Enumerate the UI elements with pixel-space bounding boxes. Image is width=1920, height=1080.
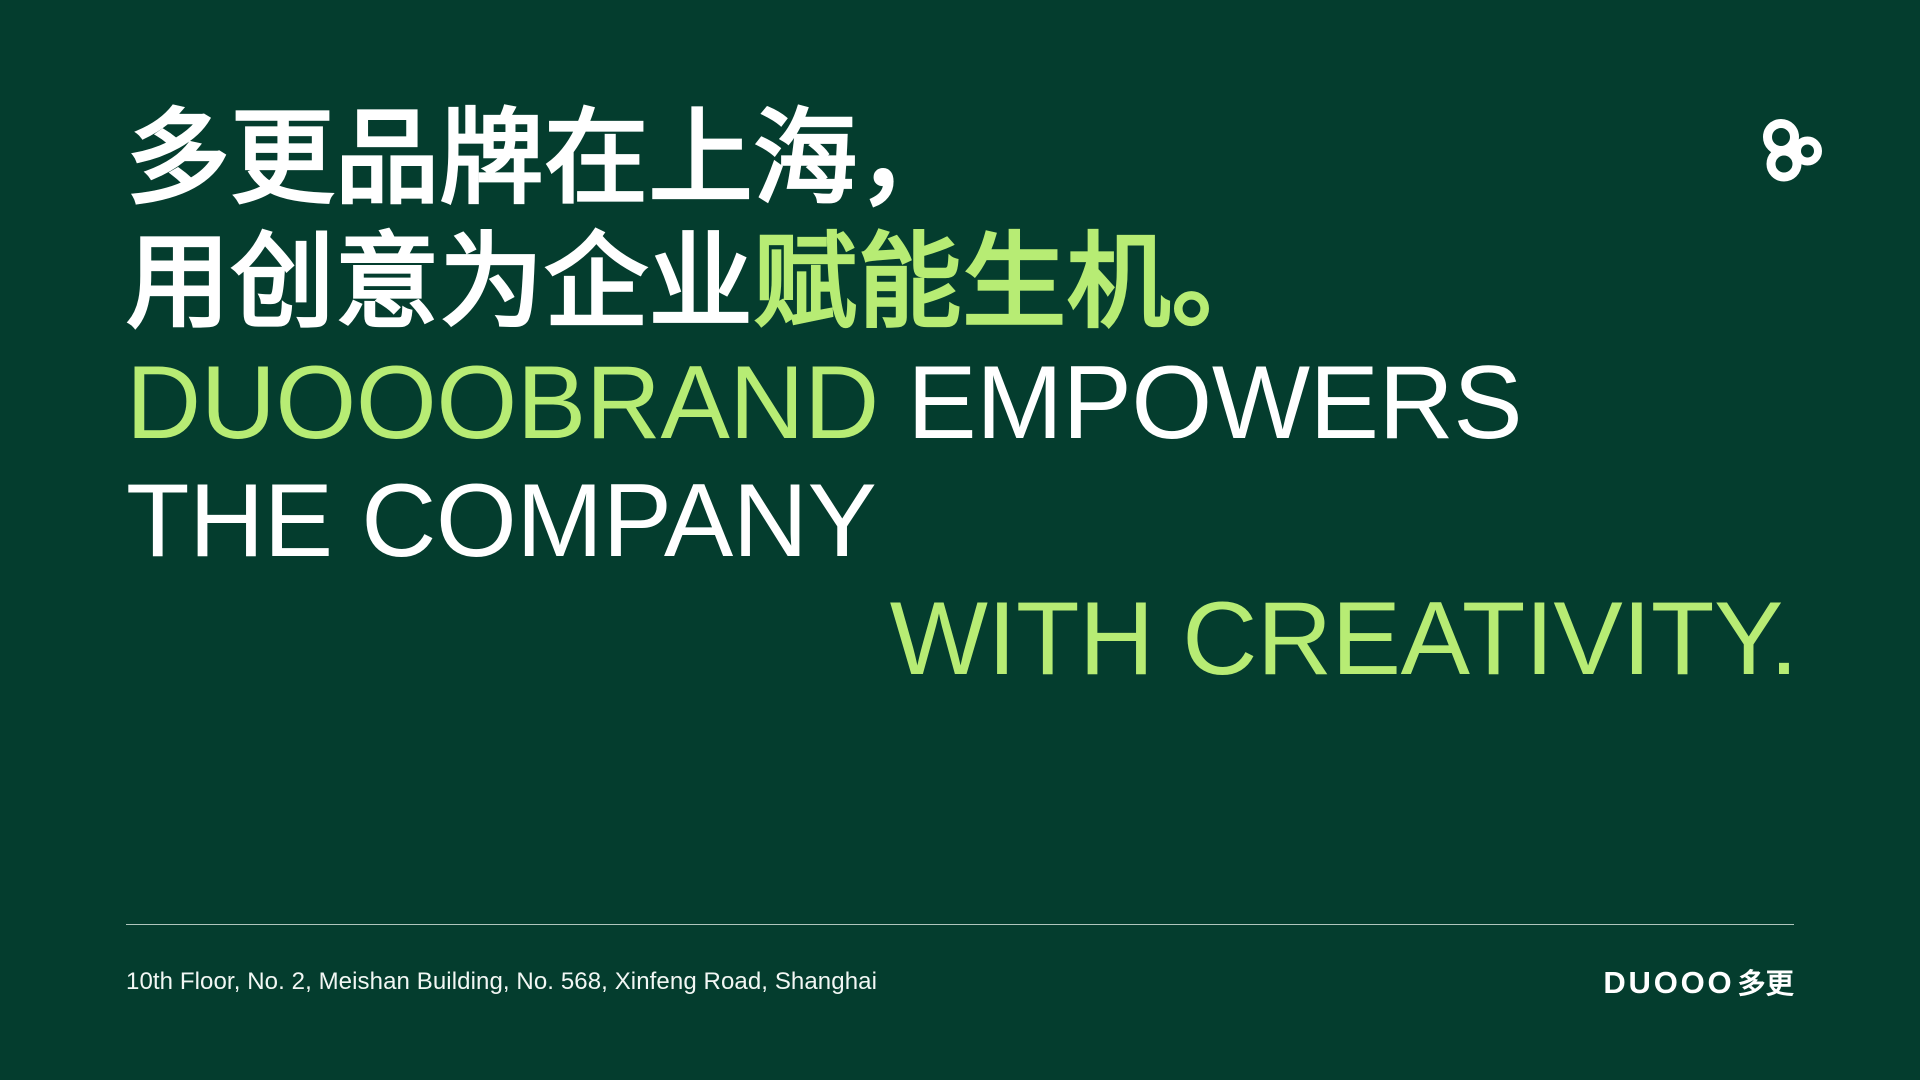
headline-chinese-line-1: 多更品牌在上海， bbox=[126, 96, 1806, 220]
headline-english-line-3: WITH CREATIVITY. bbox=[126, 580, 1806, 698]
headline-english-brand-name: DUOOOBRAND bbox=[126, 345, 879, 461]
headline-english-line-2-text: THE COMPANY bbox=[126, 463, 876, 579]
footer-divider bbox=[126, 924, 1794, 925]
headline-english-line-3-text: WITH CREATIVITY. bbox=[890, 581, 1798, 697]
headline-chinese-line-1-text: 多更品牌在上海， bbox=[126, 97, 962, 219]
footer-logo: DUOOO 多更 bbox=[1603, 962, 1794, 1002]
footer-logo-chinese-text: 多更 bbox=[1737, 962, 1794, 1002]
headline-chinese-line-2: 用创意为企业赋能生机。 bbox=[126, 220, 1806, 344]
poster-canvas: 多更品牌在上海， 用创意为企业赋能生机。 DUOOOBRAND EMPOWERS… bbox=[0, 0, 1920, 1080]
headline-english-line-1: DUOOOBRAND EMPOWERS bbox=[126, 344, 1806, 462]
headline-chinese-line-2-white-text: 用创意为企业 bbox=[126, 221, 753, 343]
footer-address: 10th Floor, No. 2, Meishan Building, No.… bbox=[126, 966, 877, 998]
headline-english-line-1-white-text: EMPOWERS bbox=[879, 345, 1522, 461]
headline-chinese-line-2-green-text: 赋能生机。 bbox=[753, 221, 1276, 343]
footer-logo-latin-text: DUOOO bbox=[1603, 965, 1734, 1001]
headline-block: 多更品牌在上海， 用创意为企业赋能生机。 DUOOOBRAND EMPOWERS… bbox=[126, 96, 1806, 698]
headline-english-line-2: THE COMPANY bbox=[126, 462, 1806, 580]
footer-bar: 10th Floor, No. 2, Meishan Building, No.… bbox=[126, 962, 1794, 1002]
